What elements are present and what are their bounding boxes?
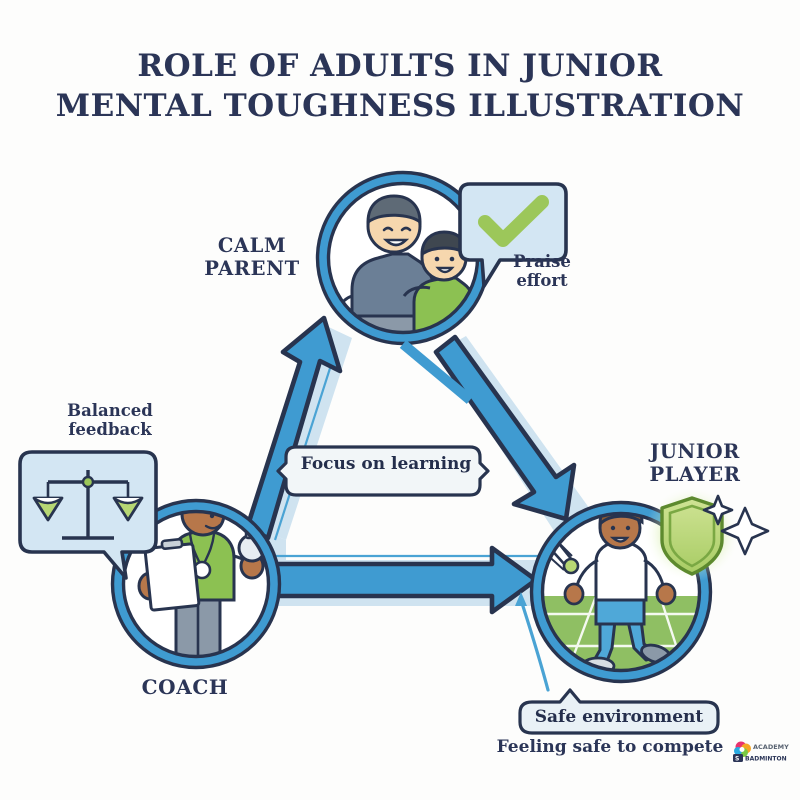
brand-logo: ACADEMY S BADMINTON [730,739,792,765]
junior-player-line-1: JUNIOR [620,440,770,463]
node-label-junior-player: JUNIOR PLAYER [620,440,770,486]
junior-player-line-2: PLAYER [620,463,770,486]
label-feeling-safe-to-compete: Feeling safe to compete [480,737,740,757]
node-label-calm-parent: CALM PARENT [188,234,316,280]
balanced-feedback-line-1: Balanced [40,401,180,420]
calm-parent-line-2: PARENT [188,257,316,280]
chip-label-safe-environment: Safe environment [519,702,719,732]
logo-mark-s: S [733,754,743,763]
badge-shield [644,486,740,582]
balanced-feedback-line-2: feedback [40,420,180,439]
label-balanced-feedback: Balanced feedback [40,401,180,440]
coach-line-1: COACH [110,676,260,700]
label-praise-effort: Praise effort [487,252,597,291]
svg-text:S: S [735,756,739,763]
logo-line-1: ACADEMY [753,743,789,751]
chip-label-focus-on-learning: Focus on learning [291,448,481,480]
praise-effort-line-1: Praise [487,252,597,271]
node-label-coach: COACH [110,676,260,700]
logo-line-2: BADMINTON [745,756,787,763]
calm-parent-line-1: CALM [188,234,316,257]
infographic-canvas: ROLE OF ADULTS IN JUNIOR MENTAL TOUGHNES… [0,0,800,800]
praise-effort-line-2: effort [487,271,597,290]
